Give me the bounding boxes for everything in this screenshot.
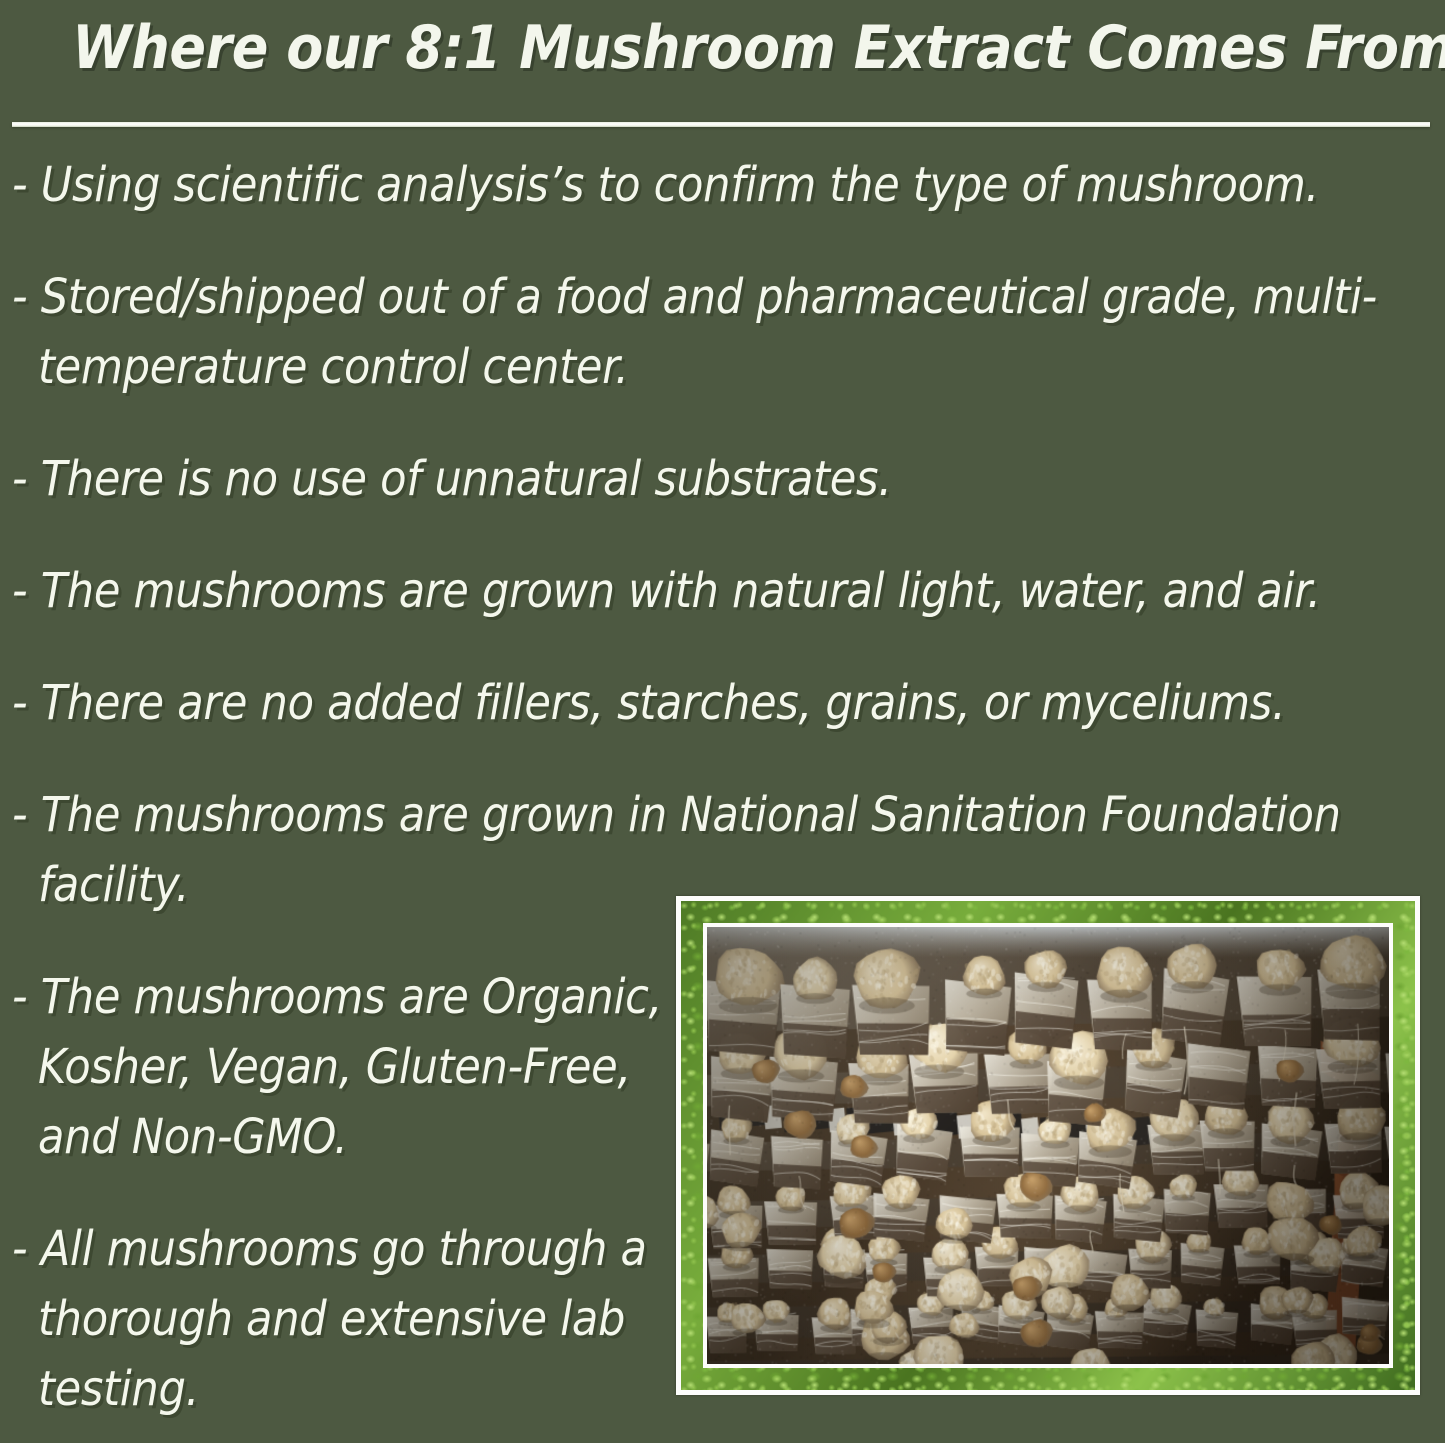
bullet-natural-growing: - The mushrooms are grown with natural l… <box>12 556 1412 626</box>
bullet-no-fillers: - There are no added fillers, starches, … <box>12 668 1412 738</box>
header: Where our 8:1 Mushroom Extract Comes Fro… <box>0 12 1445 84</box>
mushroom-farm-photo <box>707 927 1389 1364</box>
bullet-certifications: - The mushrooms are Organic, Kosher, Veg… <box>12 962 678 1172</box>
page-title: Where our 8:1 Mushroom Extract Comes Fro… <box>72 12 1373 84</box>
bullet-storage-shipping: - Stored/shipped out of a food and pharm… <box>12 262 1412 402</box>
mushroom-farm-photo-frame <box>676 896 1420 1395</box>
title-divider <box>12 122 1430 127</box>
photo-inner-border <box>703 923 1393 1368</box>
bullet-lab-testing: - All mushrooms go through a thorough an… <box>12 1214 678 1424</box>
foliage-border <box>681 901 1415 1390</box>
promo-infographic: Where our 8:1 Mushroom Extract Comes Fro… <box>0 0 1445 1443</box>
bullet-scientific-analysis: - Using scientific analysis’s to confirm… <box>12 150 1412 220</box>
bullet-no-unnatural-substrates: - There is no use of unnatural substrate… <box>12 444 1412 514</box>
